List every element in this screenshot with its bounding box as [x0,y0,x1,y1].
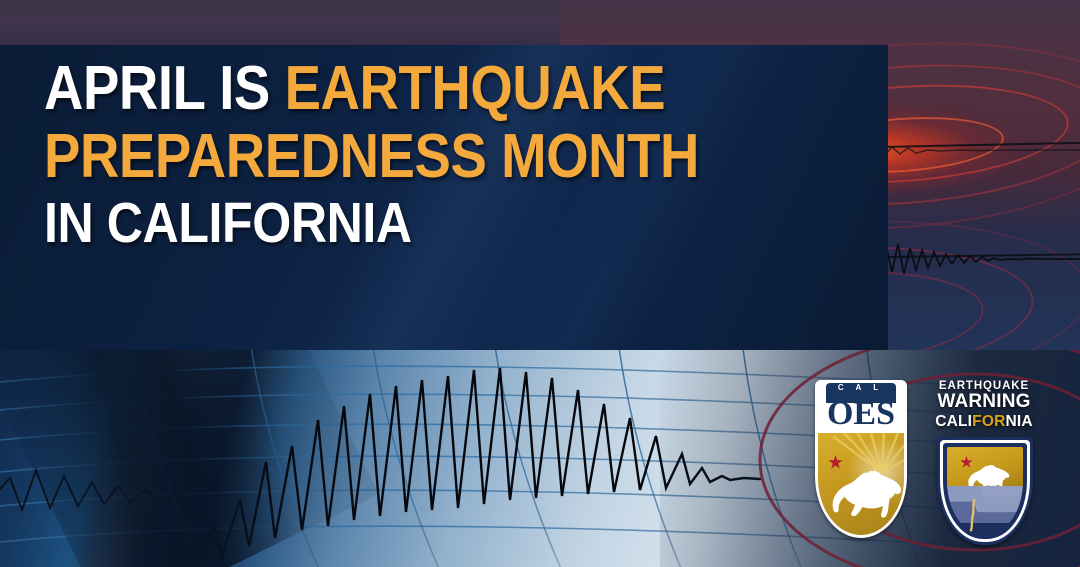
logo-lockup: C A L OES [815,380,1065,550]
seismic-waveform-burst-right [880,236,1080,282]
headline-april-is: APRIL IS [44,54,285,123]
ewc-shield [937,437,1033,545]
ewc-cali: CALI [935,413,972,430]
ewc-shield-navy-ring [943,443,1027,539]
earthquake-preparedness-banner: APRIL IS EARTHQUAKE PREPAREDNESS MONTH I… [0,0,1080,567]
ewc-shield-field [947,447,1023,535]
ewc-nia: NIA [1006,413,1033,430]
california-bear-icon [830,463,904,525]
ewc-line-california: CALIFORNIA [923,413,1045,430]
headline-block: APRIL IS EARTHQUAKE PREPAREDNESS MONTH I… [44,60,884,250]
ewc-wordmark: EARTHQUAKE WARNING CALIFORNIA [923,380,1045,430]
headline-line-3: IN CALIFORNIA [44,197,783,250]
headline-earthquake: EARTHQUAKE [285,54,666,123]
ewc-for: FOR [972,413,1005,430]
ewc-line-warning: WARNING [923,392,1045,413]
headline-preparedness-month: PREPAREDNESS MONTH [44,122,699,191]
earthquake-warning-california-logo[interactable]: EARTHQUAKE WARNING CALIFORNIA [923,380,1045,548]
headline-in-california: IN CALIFORNIA [44,191,412,255]
cal-oes-wordmark: OES [815,397,907,431]
headline-line-2: PREPAREDNESS MONTH [44,128,783,186]
cal-oes-logo[interactable]: C A L OES [815,380,907,540]
cal-oes-cal-text: C A L [823,383,893,392]
headline-line-1: APRIL IS EARTHQUAKE [44,60,783,118]
cal-oes-gold-field [818,433,904,535]
fault-line-ground-icon [947,486,1023,535]
